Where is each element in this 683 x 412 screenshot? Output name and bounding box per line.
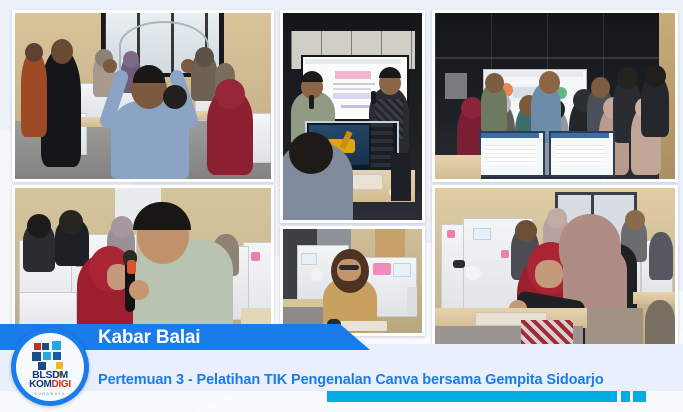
decorative-cyan-bar xyxy=(327,391,617,402)
logo-pixel-blue-dark-1 xyxy=(42,343,49,350)
logo-pixel-red xyxy=(34,343,41,350)
logo-inner: BLSDM KOMDIGI SURABAYA xyxy=(16,333,84,401)
page-title: Kabar Balai xyxy=(98,328,200,348)
logo-name-kom: KOM xyxy=(29,379,51,390)
logo-pixel-blue-dark-3 xyxy=(53,352,61,360)
bottom-banner: Kabar Balai Pertemuan 3 - Pelatihan TIK … xyxy=(0,326,683,412)
photo-mentoring-left xyxy=(12,185,274,343)
logo-name-komdigi: KOMDIGI xyxy=(16,379,84,390)
subtitle-text: Pertemuan 3 - Pelatihan TIK Pengenalan C… xyxy=(98,371,628,390)
photo-group-photo xyxy=(432,10,678,182)
decorative-cyan-square-1 xyxy=(621,391,630,402)
logo-name-city: SURABAYA xyxy=(16,391,84,396)
poster-canvas: Kabar Balai Pertemuan 3 - Pelatihan TIK … xyxy=(0,0,683,412)
logo-pixel-blue-light-2 xyxy=(43,352,51,360)
photo-presentation-screen xyxy=(280,10,425,223)
logo-pixel-yellow xyxy=(56,362,63,369)
logo-pixel-blue-dark-2 xyxy=(32,352,41,361)
logo-badge: BLSDM KOMDIGI SURABAYA xyxy=(11,328,89,406)
photo-classroom-cheering xyxy=(12,10,274,182)
decorative-cyan-square-2 xyxy=(633,391,646,402)
logo-pixel-blue-light-1 xyxy=(52,341,61,350)
photo-participant-desk xyxy=(280,226,425,336)
logo-name-digi: DIGI xyxy=(52,379,71,390)
